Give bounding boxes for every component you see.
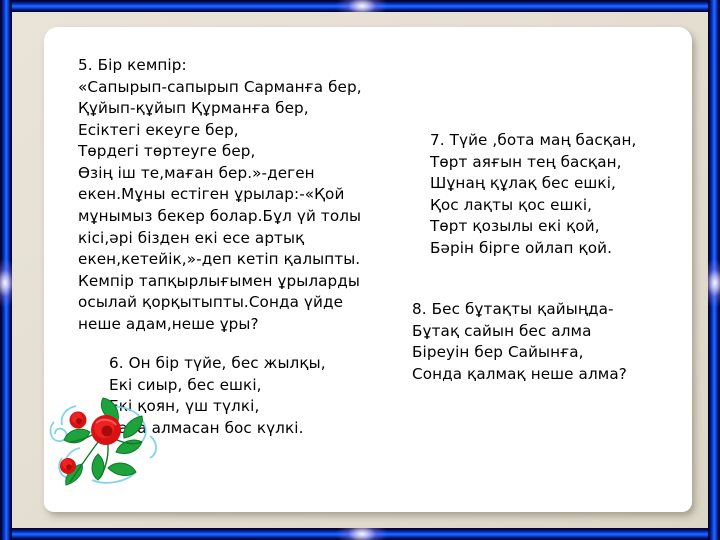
- riddle-text-6: 6. Он бір түйе, бес жылқы, Екі сиыр, бес…: [109, 353, 409, 439]
- slide-content-card: 5. Бір кемпір: «Сапырып-сапырып Сарманға…: [44, 27, 692, 512]
- slide-mat: 5. Бір кемпір: «Сапырып-сапырып Сарманға…: [12, 12, 708, 528]
- frame-border-bottom: [0, 528, 720, 540]
- riddle-text-5: 5. Бір кемпір: «Сапырып-сапырып Сарманға…: [78, 55, 398, 336]
- frame-border-right: [708, 0, 720, 540]
- frame-border-left: [0, 0, 12, 540]
- riddle-text-8: 8. Бес бұтақты қайыңда- Бұтақ сайын бес …: [412, 299, 720, 385]
- frame-border-top: [0, 0, 720, 12]
- presentation-slide: 5. Бір кемпір: «Сапырып-сапырып Сарманға…: [0, 0, 720, 540]
- riddle-text-7: 7. Түйе ,бота маң басқан, Төрт аяғын тең…: [430, 130, 720, 259]
